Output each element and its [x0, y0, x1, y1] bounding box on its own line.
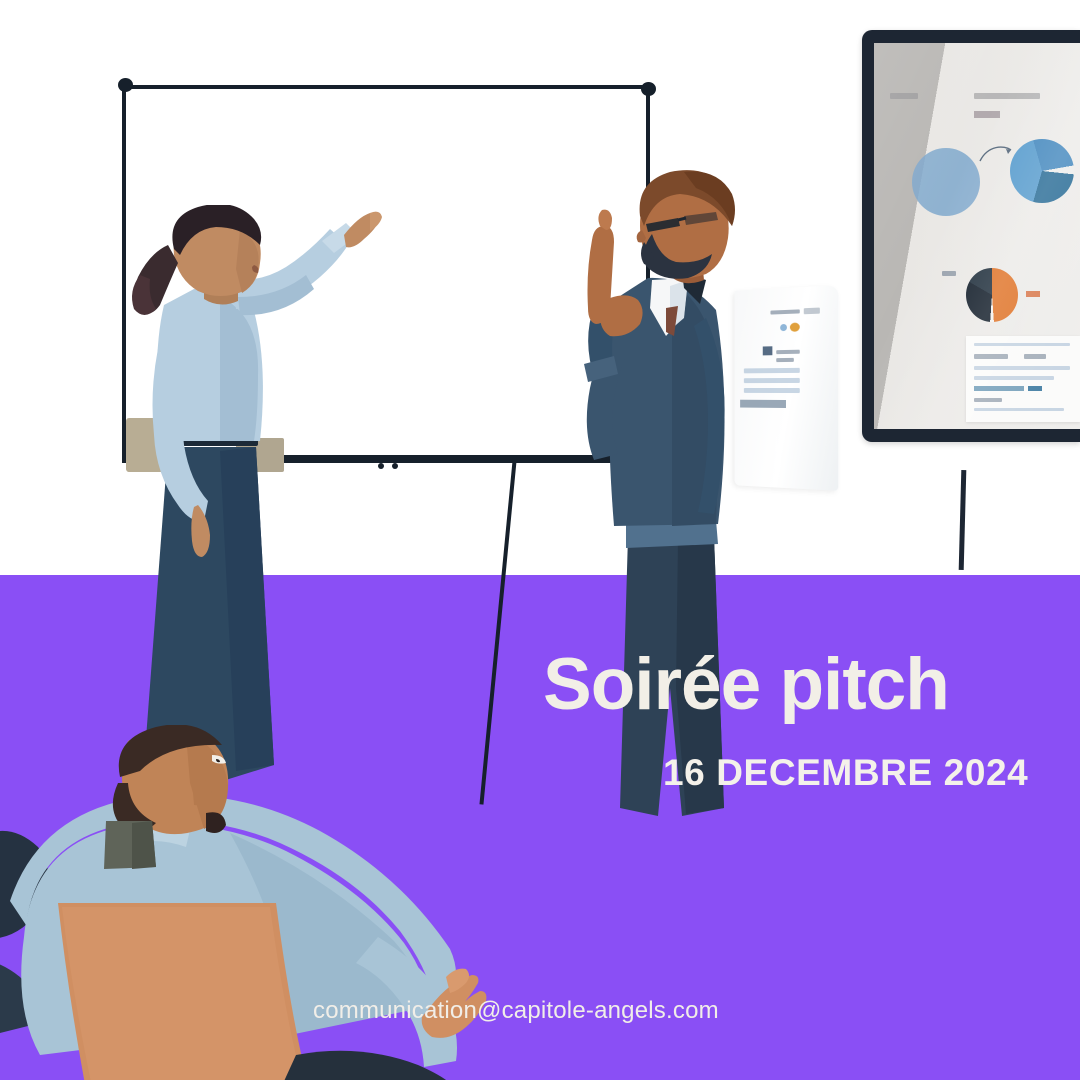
frame-knob-right-icon	[641, 82, 656, 96]
event-date: 16 DECEMBRE 2024	[663, 752, 1028, 794]
contact-email[interactable]: communication@capitole-angels.com	[313, 997, 719, 1025]
tv-stand	[959, 470, 967, 570]
tv-screen-glare	[874, 43, 1080, 429]
poster-dot-orange	[790, 322, 800, 331]
tray-dot-2-icon	[392, 463, 398, 469]
poster-title-2	[804, 308, 820, 315]
frame-knob-left-icon	[118, 78, 133, 92]
seated-attendee	[0, 725, 540, 1080]
woman-presenter	[108, 205, 388, 795]
page-title: Soirée pitch	[543, 648, 949, 721]
tv-screen	[874, 43, 1080, 429]
poster-canvas: Soirée pitch 16 DECEMBRE 2024 communicat…	[0, 0, 1080, 1080]
wall-tv-display	[862, 30, 1080, 470]
